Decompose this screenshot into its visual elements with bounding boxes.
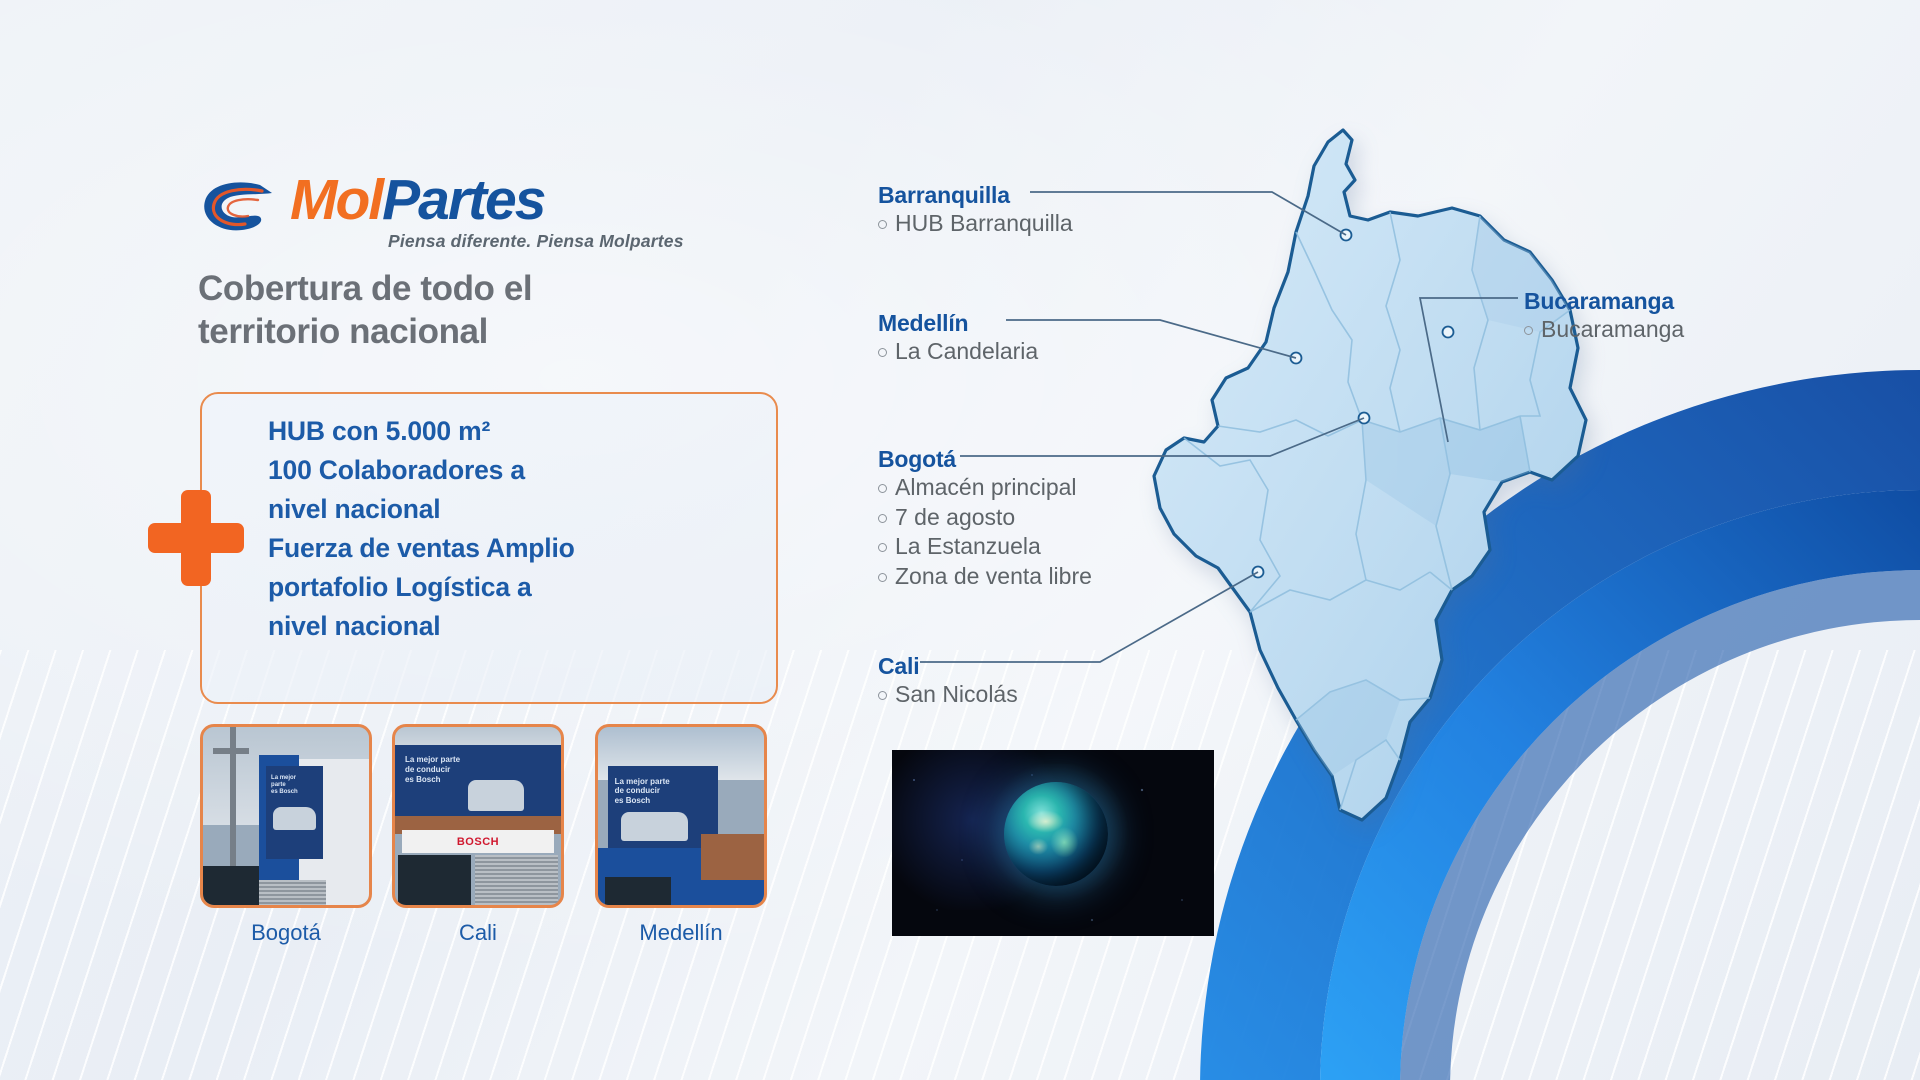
photo-caption-bogota: Bogotá xyxy=(200,920,372,946)
callout-point-label: La Estanzuela xyxy=(895,533,1041,559)
callout-point: Almacén principal xyxy=(878,473,1092,503)
bullet-icon xyxy=(878,348,887,357)
photo-caption-cali: Cali xyxy=(392,920,564,946)
bullet-icon xyxy=(878,220,887,229)
photo-caption-medellin: Medellín xyxy=(595,920,767,946)
callout-city-bucaramanga: Bucaramanga xyxy=(1524,288,1684,315)
callout-point: San Nicolás xyxy=(878,680,1018,710)
callout-city-barranquilla: Barranquilla xyxy=(878,182,1073,209)
bullet-icon xyxy=(878,543,887,552)
feature-line-2: nivel nacional xyxy=(268,490,698,529)
brand-wordmark-partes: Partes xyxy=(382,168,544,232)
brand-logo: MolPartes Piensa diferente. Piensa Molpa… xyxy=(198,175,628,247)
callout-point-label: Bucaramanga xyxy=(1541,316,1684,342)
callout-city-medellin: Medellín xyxy=(878,310,1038,337)
callout-bogota: Bogotá Almacén principal 7 de agosto La … xyxy=(878,446,1092,592)
callout-point-label: La Candelaria xyxy=(895,338,1038,364)
slide-canvas: MolPartes Piensa diferente. Piensa Molpa… xyxy=(0,0,1920,1080)
brand-tagline: Piensa diferente. Piensa Molpartes xyxy=(388,231,684,252)
bullet-icon xyxy=(878,573,887,582)
callout-point-label: HUB Barranquilla xyxy=(895,210,1073,236)
earth-globe-video-thumbnail[interactable] xyxy=(892,750,1214,936)
callout-point: HUB Barranquilla xyxy=(878,209,1073,239)
molpartes-swoosh-icon xyxy=(198,177,290,239)
photo-card-bogota[interactable]: La mejorpartees Bosch xyxy=(200,724,372,908)
feature-list: HUB con 5.000 m²100 Colaboradores anivel… xyxy=(268,412,698,646)
feature-line-0: HUB con 5.000 m² xyxy=(268,412,698,451)
callout-point-label: Almacén principal xyxy=(895,474,1077,500)
callout-point: La Candelaria xyxy=(878,337,1038,367)
callout-point: La Estanzuela xyxy=(878,532,1092,562)
brand-wordmark: MolPartes xyxy=(290,172,544,229)
bullet-icon xyxy=(878,484,887,493)
page-title: Cobertura de todo elterritorio nacional xyxy=(198,268,658,353)
bullet-icon xyxy=(1524,326,1533,335)
plus-badge-icon xyxy=(148,490,244,586)
callout-bucaramanga: Bucaramanga Bucaramanga xyxy=(1524,288,1684,345)
callout-point: Bucaramanga xyxy=(1524,315,1684,345)
bullet-icon xyxy=(878,691,887,700)
callout-city-cali: Cali xyxy=(878,653,1018,680)
callout-medellin: Medellín La Candelaria xyxy=(878,310,1038,367)
callout-point-label: 7 de agosto xyxy=(895,504,1015,530)
brand-wordmark-mol: Mol xyxy=(290,168,382,232)
photo-card-cali[interactable]: La mejor partede conducires Bosch BOSCH xyxy=(392,724,564,908)
callout-point: 7 de agosto xyxy=(878,503,1092,533)
feature-line-3: Fuerza de ventas Amplio xyxy=(268,529,698,568)
callout-point-label: Zona de venta libre xyxy=(895,563,1092,589)
photo-card-medellin[interactable]: La mejor partede conducires Bosch xyxy=(595,724,767,908)
callout-city-bogota: Bogotá xyxy=(878,446,1092,473)
callout-point: Zona de venta libre xyxy=(878,562,1092,592)
feature-line-5: nivel nacional xyxy=(268,607,698,646)
feature-line-1: 100 Colaboradores a xyxy=(268,451,698,490)
callout-point-label: San Nicolás xyxy=(895,681,1018,707)
earth-landmass xyxy=(1004,782,1108,886)
feature-line-4: portafolio Logística a xyxy=(268,568,698,607)
callout-barranquilla: Barranquilla HUB Barranquilla xyxy=(878,182,1073,239)
bullet-icon xyxy=(878,514,887,523)
callout-cali: Cali San Nicolás xyxy=(878,653,1018,710)
